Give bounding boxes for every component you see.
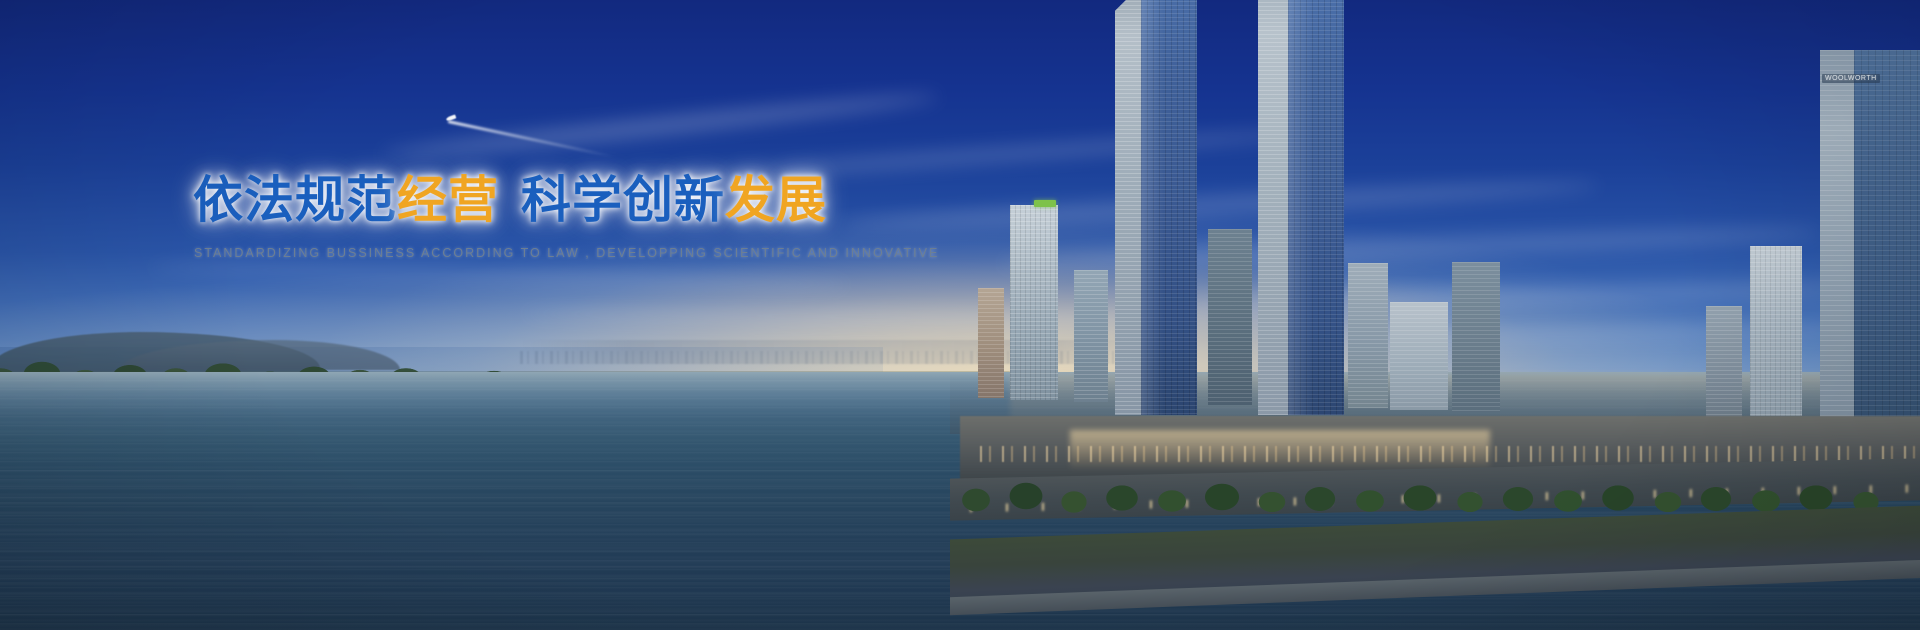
city-skyline: WOOLWORTH (990, 0, 1920, 630)
building-facade (1452, 262, 1500, 412)
tower-facade-light (1115, 0, 1141, 415)
building-glass-tower-left (1115, 0, 1197, 415)
rooftop-green-sign (1034, 200, 1056, 207)
building-facade (1010, 205, 1058, 400)
building-edge-tower: WOOLWORTH (1820, 50, 1920, 440)
tower-facade-glass (1854, 50, 1920, 440)
podium-window-lights (980, 446, 1920, 462)
tower-facade-glass (1288, 0, 1344, 415)
headline-segment-3: 科学创新 (521, 175, 725, 225)
building-facade (1750, 246, 1802, 416)
building-facade (1074, 270, 1108, 402)
banner-headline: 依法规范 经营 科学创新 发展 (193, 175, 827, 225)
tower-facade-light (1820, 50, 1854, 440)
building-midrise-e (1750, 246, 1802, 416)
building-facade (1390, 302, 1448, 410)
building-facade (978, 288, 1004, 398)
building-sign-label: WOOLWORTH (1822, 74, 1880, 83)
building-midrise-d (1706, 306, 1742, 418)
building-glass-tower-right (1258, 0, 1344, 415)
headline-segment-1: 依法规范 (193, 175, 397, 225)
building-midrise-b (1348, 263, 1388, 408)
building-midrise (1074, 270, 1108, 402)
headline-segment-4: 发展 (725, 175, 827, 225)
building-facade (1706, 306, 1742, 418)
building-small-warm (978, 288, 1004, 398)
building-midrise-with-sign (1010, 205, 1058, 400)
tower-facade-glass (1141, 0, 1197, 415)
building-midrise-c (1452, 262, 1500, 412)
hero-banner: WOOLWORTH 依法规范 经营 科学创新 发展 STANDARDIZING … (0, 0, 1920, 630)
tower-facade-light (1258, 0, 1288, 415)
building-dark-midrise (1208, 229, 1252, 405)
building-lowrise-wide (1390, 302, 1448, 410)
banner-subtitle: STANDARDIZING BUSSINESS ACCORDING TO LAW… (194, 246, 939, 260)
headline-segment-2: 经营 (397, 175, 499, 225)
building-facade (1348, 263, 1388, 408)
building-facade (1208, 229, 1252, 405)
